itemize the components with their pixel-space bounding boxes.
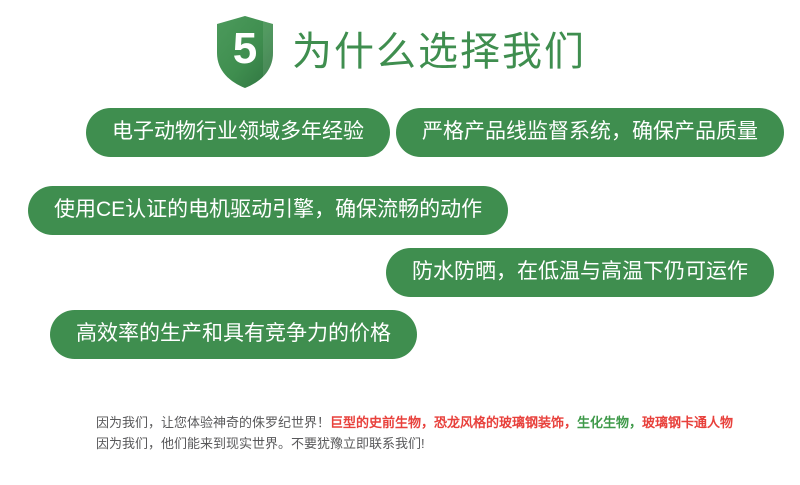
- feature-pill-2: 严格产品线监督系统，确保产品质量: [396, 108, 784, 157]
- footer-line-1: 因为我们，让您体验神奇的侏罗纪世界！巨型的史前生物，恐龙风格的玻璃钢装饰，生化生…: [96, 412, 756, 433]
- feature-pill-3-label: 使用CE认证的电机驱动引擎，确保流畅的动作: [54, 198, 482, 221]
- footer-line-1-highlight-green: 生化生物，: [577, 415, 642, 430]
- footer-line-2: 因为我们，他们能来到现实世界。不要犹豫立即联系我们!: [96, 433, 756, 454]
- footer-line-1-highlight-red-2: 玻璃钢卡通人物: [642, 415, 733, 430]
- footer-line-1-highlight-red-1: 巨型的史前生物，恐龙风格的玻璃钢装饰，: [330, 415, 577, 430]
- feature-pill-2-label: 严格产品线监督系统，确保产品质量: [422, 120, 758, 143]
- feature-pill-1-label: 电子动物行业领域多年经验: [112, 120, 364, 143]
- feature-pill-4-label: 防水防晒，在低温与高温下仍可运作: [412, 260, 748, 283]
- page-header: 5 为什么选择我们: [0, 0, 800, 80]
- badge-number: 5: [214, 15, 276, 89]
- shield-badge: 5: [214, 15, 276, 89]
- page-title: 为什么选择我们: [292, 32, 586, 72]
- feature-pill-1: 电子动物行业领域多年经验: [86, 108, 390, 157]
- feature-pill-5: 高效率的生产和具有竞争力的价格: [50, 310, 417, 359]
- feature-pill-3: 使用CE认证的电机驱动引擎，确保流畅的动作: [28, 186, 508, 235]
- feature-pill-list: 电子动物行业领域多年经验 严格产品线监督系统，确保产品质量 使用CE认证的电机驱…: [0, 108, 800, 373]
- feature-pill-5-label: 高效率的生产和具有竞争力的价格: [76, 322, 391, 345]
- footer-paragraph: 因为我们，让您体验神奇的侏罗纪世界！巨型的史前生物，恐龙风格的玻璃钢装饰，生化生…: [96, 412, 756, 454]
- feature-pill-4: 防水防晒，在低温与高温下仍可运作: [386, 248, 774, 297]
- footer-line-1-part-1: 因为我们，让您体验神奇的侏罗纪世界！: [96, 415, 330, 430]
